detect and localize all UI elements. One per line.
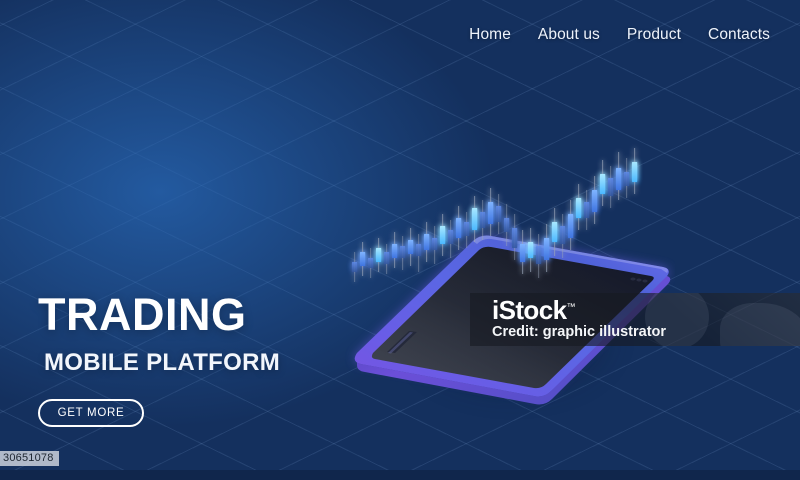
- nav-link-contacts[interactable]: Contacts: [708, 26, 770, 44]
- nav-link-about-us[interactable]: About us: [538, 26, 600, 44]
- bottom-bar: [0, 470, 800, 480]
- hero-banner: Home About us Product Contacts: [0, 0, 800, 480]
- get-more-button[interactable]: GET MORE: [38, 399, 144, 427]
- istock-logo: iStock™: [492, 295, 575, 326]
- hero-copy-block: TRADING MOBILE PLATFORM GET MORE: [38, 292, 280, 427]
- page-title: TRADING: [38, 292, 280, 337]
- nav-link-home[interactable]: Home: [469, 26, 511, 44]
- nav-link-product[interactable]: Product: [627, 26, 681, 44]
- page-subtitle: MOBILE PLATFORM: [44, 349, 280, 377]
- top-navigation: Home About us Product Contacts: [469, 26, 770, 44]
- istock-logo-text: iStock: [492, 295, 566, 325]
- trademark-symbol: ™: [566, 301, 574, 311]
- asset-id-label: 30651078: [0, 451, 59, 466]
- watermark-credit: Credit: graphic illustrator: [492, 324, 666, 340]
- istock-watermark: iStock™ Credit: graphic illustrator: [470, 293, 800, 346]
